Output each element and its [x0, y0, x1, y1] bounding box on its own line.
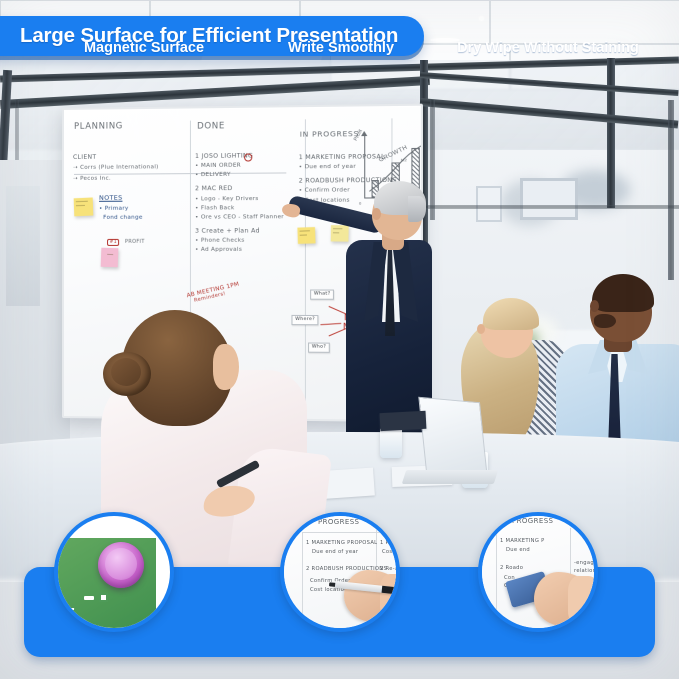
- mind-map-node: Who?: [308, 342, 330, 352]
- whiteboard-item: Due end of year: [305, 164, 357, 171]
- product-feature-image: PLANNING CLIENT ➝ Corrs (Plue Internatio…: [0, 0, 679, 679]
- whiteboard-item: Pecos Inc.: [80, 176, 111, 182]
- feature-image-dry-wipe: PROGRESS 1 MARKETING P Due end 2 Roado C…: [478, 512, 598, 632]
- crop-line: Due end of year: [312, 549, 358, 555]
- sticky-note: [297, 227, 315, 244]
- notebook: [380, 411, 427, 431]
- crop-line: Due end: [506, 547, 530, 553]
- whiteboard-item: PROFIT: [125, 239, 145, 245]
- whiteboard-item: NOTES: [99, 194, 143, 202]
- magnet-icon: [98, 542, 144, 588]
- crop-line: 1 MARKETING PROPOSAL: [306, 540, 377, 546]
- whiteboard-item: Primary: [105, 206, 129, 212]
- crop-line: 1 MARKETING P: [500, 538, 545, 544]
- feature-label-magnetic-surface: Magnetic Surface: [34, 40, 254, 56]
- whiteboard-column-header: PLANNING: [74, 121, 123, 132]
- whiteboard-item: 3 Create + Plan Ad: [195, 227, 284, 234]
- crop-line: 2 Roado: [500, 565, 523, 571]
- whiteboard-item: Fond change: [103, 215, 142, 221]
- whiteboard-item: Logo - Key Drivers: [201, 196, 259, 202]
- crop-line: relations: [574, 568, 598, 574]
- water-glass: [380, 428, 402, 458]
- whiteboard-item: DELIVERY: [201, 172, 231, 178]
- whiteboard-item: Flash Back: [201, 205, 235, 211]
- crop-line: -engage: [574, 560, 597, 566]
- feature-label-write-smoothly: Write Smoothly: [255, 40, 427, 56]
- sticky-note: [74, 198, 94, 217]
- crop-heading: PROGRESS: [318, 518, 359, 526]
- whiteboard-item: 2 MAC RED: [195, 185, 284, 193]
- whiteboard-item: 1 JOSO LIGHTING: [195, 152, 284, 160]
- sticky-note: [101, 248, 119, 268]
- feature-label-dry-wipe: Dry Wipe Without Staining: [448, 40, 648, 56]
- whiteboard-item: Ad Approvals: [201, 247, 242, 253]
- crop-line: 2 Re-arrange: [380, 566, 400, 572]
- whiteboard-mark: [84, 596, 94, 600]
- whiteboard-item: MAIN ORDER: [201, 163, 241, 169]
- whiteboard-item: Corrs (Plue International): [80, 164, 159, 171]
- feature-image-write-smoothly: PROGRESS 1 MARKETING PROPOSAL Due end of…: [280, 512, 400, 632]
- crop-heading: PROGRESS: [512, 517, 553, 525]
- feature-image-magnetic-surface: [54, 512, 174, 632]
- whiteboard-magnet-square: [99, 593, 108, 602]
- whiteboard-item: CLIENT: [73, 153, 159, 161]
- whiteboard-item: Phone Checks: [201, 238, 245, 244]
- whiteboard-column-header: IN PROGRESS: [300, 129, 359, 139]
- whiteboard-item: Ore vs CEO - Staff Planner: [201, 214, 284, 220]
- whiteboard-column-header: DONE: [197, 121, 225, 131]
